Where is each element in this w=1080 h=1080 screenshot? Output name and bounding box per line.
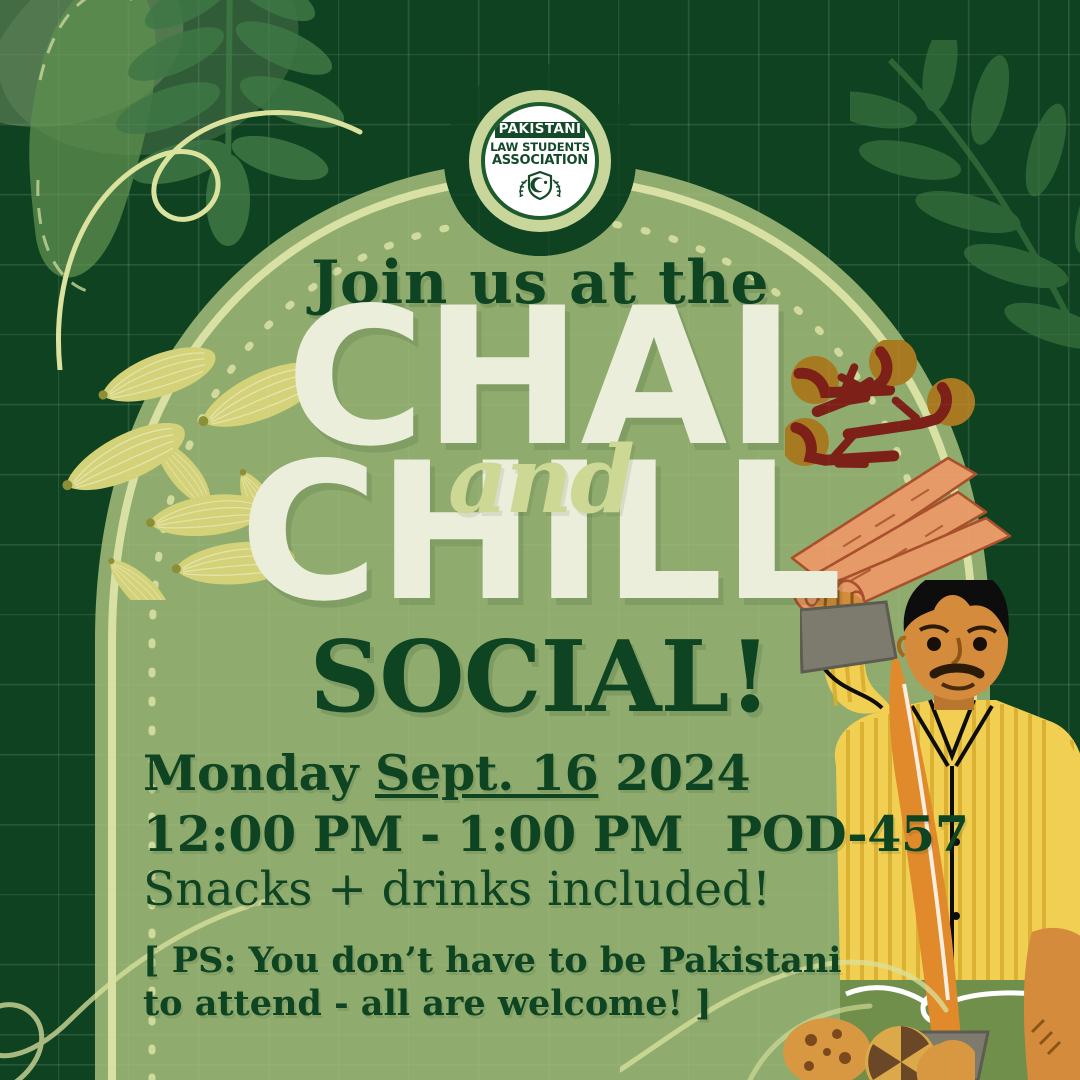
event-time-row: 12:00 PM - 1:00 PMPOD-457 <box>143 805 969 863</box>
logo-line-law-students: LAW STUDENTS <box>490 141 590 153</box>
event-date-highlight: Sept. 16 <box>375 744 598 802</box>
event-time: 12:00 PM - 1:00 PM <box>143 805 683 863</box>
event-room: POD-457 <box>725 805 968 863</box>
pakistani-law-students-association-logo: PAKISTANI LAW STUDENTS ASSOCIATION <box>469 90 611 232</box>
logo-line-pakistani: PAKISTANI <box>495 122 586 138</box>
event-date-suffix: 2024 <box>598 744 750 802</box>
logo-line-association: ASSOCIATION <box>492 154 588 168</box>
headline-connector: and <box>0 425 1080 534</box>
shield-crescent-star-laurel-icon <box>511 170 569 200</box>
event-snacks-note: Snacks + drinks included! <box>143 862 771 917</box>
event-date: Monday Sept. 16 2024 <box>143 744 750 802</box>
headline-social: SOCIAL! <box>0 620 1080 735</box>
event-date-prefix: Monday <box>143 744 375 802</box>
event-ps-note: [ PS: You don’t have to be Pakistani to … <box>143 940 873 1025</box>
poster-canvas: PAKISTANI LAW STUDENTS ASSOCIATION <box>0 0 1080 1080</box>
